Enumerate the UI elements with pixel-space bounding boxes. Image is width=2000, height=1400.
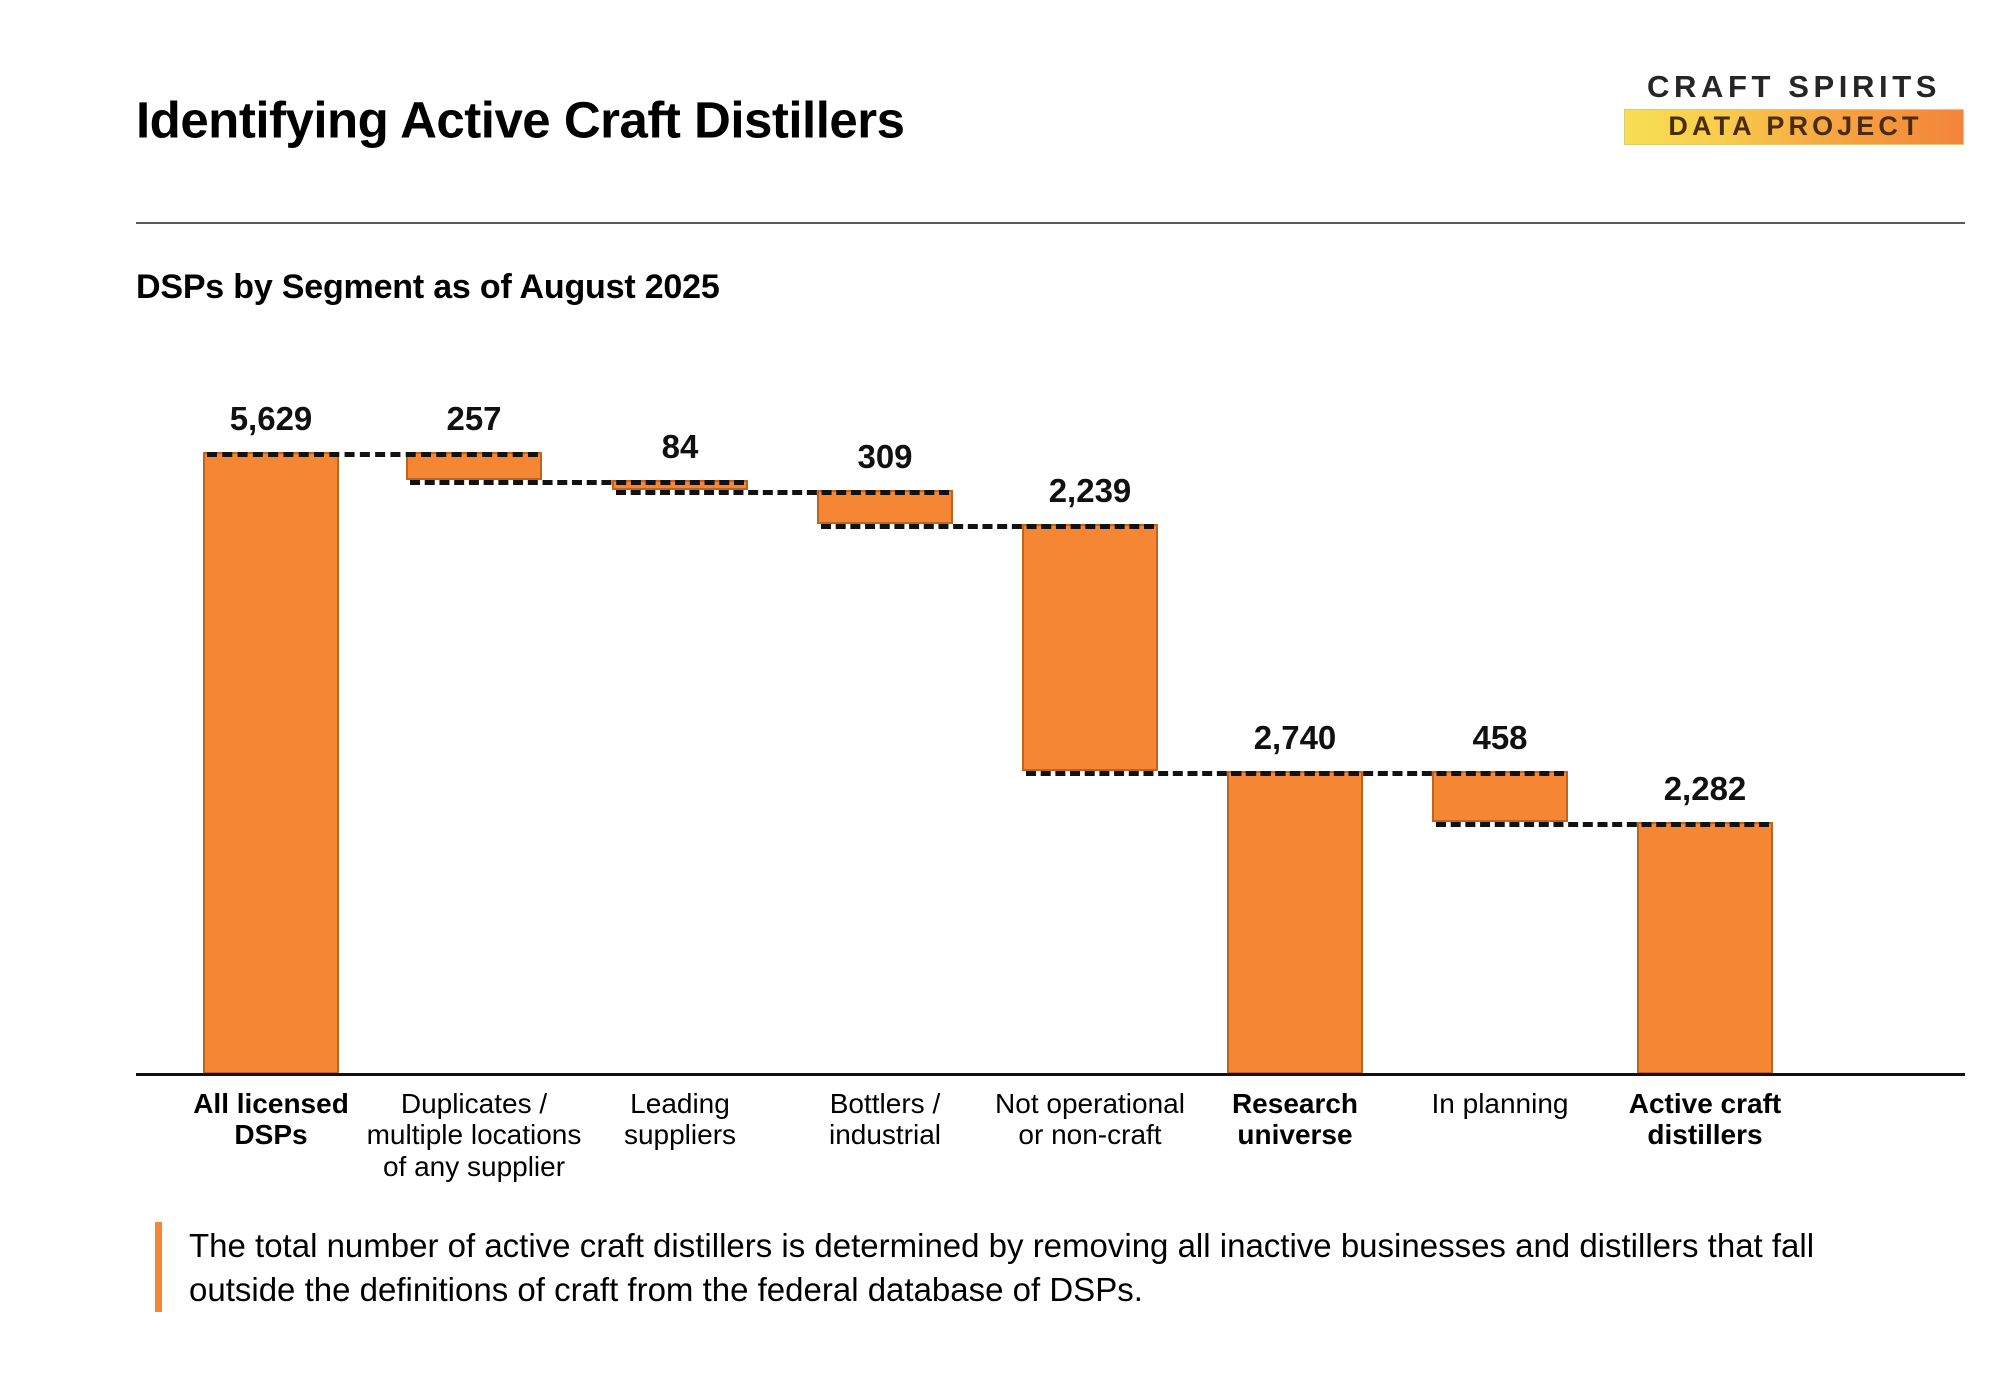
- waterfall-connector-line: [410, 480, 744, 485]
- waterfall-connector-line: [207, 452, 538, 457]
- category-label-line: of any supplier: [357, 1151, 592, 1182]
- category-label-line: or non-craft: [973, 1119, 1208, 1150]
- category-label-line: Not operational: [973, 1088, 1208, 1119]
- brand-logo-primary-text: CRAFT SPIRITS: [1624, 71, 1964, 102]
- category-label[interactable]: Active craftdistillers: [1588, 1088, 1823, 1151]
- category-label-line: multiple locations: [357, 1119, 592, 1150]
- bar-value-label: 458: [1472, 719, 1527, 757]
- category-label-line: Bottlers /: [768, 1088, 1003, 1119]
- footnote: The total number of active craft distill…: [155, 1222, 1855, 1312]
- brand-logo-secondary-text: DATA PROJECT: [1624, 109, 1964, 145]
- waterfall-bar[interactable]: [817, 490, 953, 524]
- category-label-line: industrial: [768, 1119, 1003, 1150]
- bar-value-label: 2,740: [1254, 719, 1337, 757]
- category-label[interactable]: All licensedDSPs: [154, 1088, 389, 1151]
- category-label-line: Duplicates /: [357, 1088, 592, 1119]
- bar-value-label: 309: [857, 438, 912, 476]
- waterfall-bar[interactable]: [1227, 771, 1363, 1074]
- category-label[interactable]: Bottlers /industrial: [768, 1088, 1003, 1151]
- page-title: Identifying Active Craft Distillers: [136, 91, 904, 150]
- bar-value-label: 2,282: [1664, 770, 1747, 808]
- category-label[interactable]: Researchuniverse: [1178, 1088, 1413, 1151]
- bar-value-label: 84: [662, 428, 699, 466]
- chart-subtitle: DSPs by Segment as of August 2025: [136, 268, 720, 307]
- waterfall-connector-line: [616, 490, 949, 495]
- bar-value-label: 5,629: [230, 400, 313, 438]
- bar-value-label: 257: [446, 400, 501, 438]
- waterfall-bar[interactable]: [203, 452, 339, 1074]
- category-label-line: Research: [1178, 1088, 1413, 1119]
- waterfall-bar[interactable]: [1022, 524, 1158, 771]
- category-label-line: DSPs: [154, 1119, 389, 1150]
- category-label-line: Active craft: [1588, 1088, 1823, 1119]
- waterfall-bar[interactable]: [1432, 771, 1568, 822]
- brand-logo: CRAFT SPIRITS DATA PROJECT: [1624, 71, 1964, 145]
- waterfall-connector-line: [1436, 822, 1769, 827]
- category-label[interactable]: Duplicates /multiple locationsof any sup…: [357, 1088, 592, 1182]
- bar-value-label: 2,239: [1049, 472, 1132, 510]
- category-label-line: All licensed: [154, 1088, 389, 1119]
- waterfall-bar[interactable]: [1637, 822, 1773, 1074]
- page-header: Identifying Active Craft Distillers CRAF…: [0, 0, 2000, 230]
- footnote-text: The total number of active craft distill…: [189, 1222, 1855, 1312]
- category-label[interactable]: Leadingsuppliers: [563, 1088, 798, 1151]
- category-label-line: universe: [1178, 1119, 1413, 1150]
- category-label-line: Leading: [563, 1088, 798, 1119]
- footnote-accent-bar: [155, 1222, 162, 1312]
- category-label-line: suppliers: [563, 1119, 798, 1150]
- header-divider: [136, 222, 1965, 224]
- category-label[interactable]: Not operationalor non-craft: [973, 1088, 1208, 1151]
- category-label-line: In planning: [1383, 1088, 1618, 1119]
- waterfall-connector-line: [821, 524, 1154, 529]
- waterfall-connector-line: [1231, 771, 1564, 776]
- category-label-line: distillers: [1588, 1119, 1823, 1150]
- category-label[interactable]: In planning: [1383, 1088, 1618, 1119]
